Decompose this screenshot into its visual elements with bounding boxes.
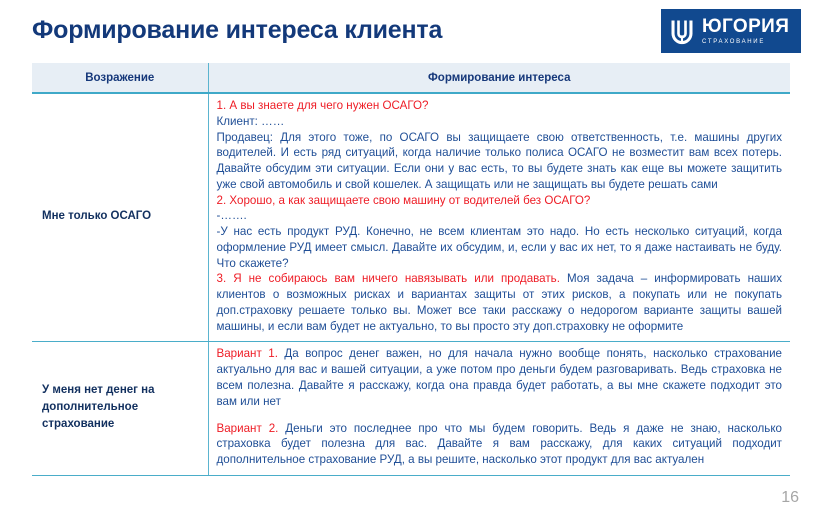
table-row: У меня нет денег на дополнительное страх…: [32, 342, 790, 475]
highlight-text: 3. Я не собираюсь вам ничего навязывать …: [217, 272, 560, 285]
arc-u-icon: [668, 17, 696, 45]
objection-label: У меня нет денег на дополнительное страх…: [32, 342, 208, 475]
column-header-objection: Возражение: [32, 63, 208, 93]
interest-content: 1. А вы знаете для чего нужен ОСАГО? Кли…: [208, 93, 790, 342]
interest-paragraph: -У нас есть продукт РУД. Конечно, не все…: [217, 224, 783, 271]
interest-paragraph: Продавец: Для этого тоже, по ОСАГО вы за…: [217, 130, 783, 193]
paragraph-text: Клиент: ……: [217, 115, 285, 128]
interest-paragraph: Вариант 2. Деньги это последнее про что …: [217, 421, 783, 468]
column-header-interest: Формирование интереса: [208, 63, 790, 93]
highlight-text: 1. А вы знаете для чего нужен ОСАГО?: [217, 99, 429, 112]
page-title: Формирование интереса клиента: [32, 16, 442, 45]
paragraph-text: -У нас есть продукт РУД. Конечно, не все…: [217, 225, 783, 270]
interest-paragraph: Клиент: ……: [217, 114, 783, 130]
interest-paragraph: 2. Хорошо, а как защищаете свою машину о…: [217, 193, 783, 209]
interest-paragraph: 1. А вы знаете для чего нужен ОСАГО?: [217, 98, 783, 114]
table-header-row: Возражение Формирование интереса: [32, 63, 790, 93]
logo-text: ЮГОРИЯ СТРАХОВАНИЕ: [702, 17, 789, 45]
slide-header: Формирование интереса клиента ЮГОРИЯ СТР…: [0, 0, 817, 62]
objection-interest-table: Возражение Формирование интереса Мне тол…: [32, 63, 790, 476]
interest-content: Вариант 1. Да вопрос денег важен, но для…: [208, 342, 790, 475]
page-number: 16: [781, 489, 799, 507]
highlight-text: Вариант 2.: [217, 422, 279, 435]
paragraph-text: Продавец: Для этого тоже, по ОСАГО вы за…: [217, 131, 783, 191]
interest-paragraph: Вариант 1. Да вопрос денег важен, но для…: [217, 346, 783, 409]
highlight-text: 2. Хорошо, а как защищаете свою машину о…: [217, 194, 591, 207]
table-row: Мне только ОСАГО 1. А вы знаете для чего…: [32, 93, 790, 342]
paragraph-text: Деньги это последнее про что мы будем го…: [217, 422, 783, 467]
interest-paragraph: 3. Я не собираюсь вам ничего навязывать …: [217, 271, 783, 334]
paragraph-text: -…….: [217, 209, 247, 222]
table-body: Мне только ОСАГО 1. А вы знаете для чего…: [32, 93, 790, 475]
objection-label: Мне только ОСАГО: [32, 93, 208, 342]
logo-company-name: ЮГОРИЯ: [702, 17, 789, 36]
interest-paragraph: -…….: [217, 208, 783, 224]
company-logo: ЮГОРИЯ СТРАХОВАНИЕ: [661, 9, 801, 53]
table-header: Возражение Формирование интереса: [32, 63, 790, 93]
paragraph-text: Да вопрос денег важен, но для начала нуж…: [217, 347, 783, 407]
highlight-text: Вариант 1.: [217, 347, 278, 360]
logo-tagline: СТРАХОВАНИЕ: [702, 39, 789, 45]
